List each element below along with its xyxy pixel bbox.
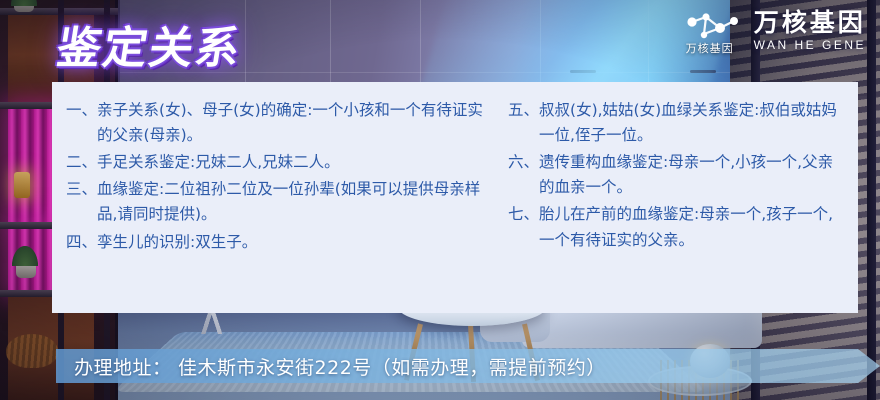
logo-mark-caption: 万核基因 [686, 40, 734, 56]
logo-name-en: WAN HE GENE [754, 39, 866, 51]
list-item-text: 叔叔(女),姑姑(女)血绿关系鉴定:叔伯或姑妈一位,侄子一位。 [539, 98, 848, 148]
list-item-number: 七、 [508, 202, 539, 252]
service-list-panel: 一、 亲子关系(女)、母子(女)的确定:一个小孩和一个有待证实的父亲(母亲)。 … [52, 82, 858, 313]
list-item-number: 一、 [66, 98, 97, 148]
page-title: 鉴定关系 [53, 12, 247, 76]
address-text: 办理地址： 佳木斯市永安街222号（如需办理，需提前预约） [56, 353, 606, 380]
list-item-text: 手足关系鉴定:兄妹二人,兄妹二人。 [97, 150, 498, 175]
list-item-text: 血缘鉴定:二位祖孙二位及一位孙辈(如果可以提供母亲样品,请同时提供)。 [97, 177, 498, 227]
address-banner: 办理地址： 佳木斯市永安街222号（如需办理，需提前预约） [56, 349, 880, 383]
list-item: 五、 叔叔(女),姑姑(女)血绿关系鉴定:叔伯或姑妈一位,侄子一位。 [508, 98, 848, 148]
molecule-network-icon: 万核基因 [682, 8, 744, 54]
list-item-text: 遗传重构血缘鉴定:母亲一个,小孩一个,父亲的血亲一个。 [539, 150, 848, 200]
list-item-number: 六、 [508, 150, 539, 200]
list-item-number: 五、 [508, 98, 539, 148]
list-item-text: 胎儿在产前的血缘鉴定:母亲一个,孩子一个,一个有待证实的父亲。 [539, 202, 848, 252]
list-item: 六、 遗传重构血缘鉴定:母亲一个,小孩一个,父亲的血亲一个。 [508, 150, 848, 200]
list-item-number: 四、 [66, 230, 97, 255]
logo-name-cn: 万核基因 [754, 11, 866, 36]
list-item: 四、 孪生儿的识别:双生子。 [66, 230, 498, 255]
list-item-number: 三、 [66, 177, 97, 227]
list-column-right: 五、 叔叔(女),姑姑(女)血绿关系鉴定:叔伯或姑妈一位,侄子一位。 六、 遗传… [504, 98, 858, 303]
brand-logo: 万核基因 万核基因 WAN HE GENE [682, 8, 866, 54]
list-item: 二、 手足关系鉴定:兄妹二人,兄妹二人。 [66, 150, 498, 175]
logo-wordmark: 万核基因 WAN HE GENE [754, 11, 866, 51]
list-item: 一、 亲子关系(女)、母子(女)的确定:一个小孩和一个有待证实的父亲(母亲)。 [66, 98, 498, 148]
list-item-number: 二、 [66, 150, 97, 175]
promo-poster: 鉴定关系 万核基因 [0, 0, 880, 400]
list-item-text: 亲子关系(女)、母子(女)的确定:一个小孩和一个有待证实的父亲(母亲)。 [97, 98, 498, 148]
list-item: 七、 胎儿在产前的血缘鉴定:母亲一个,孩子一个,一个有待证实的父亲。 [508, 202, 848, 252]
list-item: 三、 血缘鉴定:二位祖孙二位及一位孙辈(如果可以提供母亲样品,请同时提供)。 [66, 177, 498, 227]
list-item-text: 孪生儿的识别:双生子。 [97, 230, 498, 255]
list-column-left: 一、 亲子关系(女)、母子(女)的确定:一个小孩和一个有待证实的父亲(母亲)。 … [52, 98, 504, 303]
